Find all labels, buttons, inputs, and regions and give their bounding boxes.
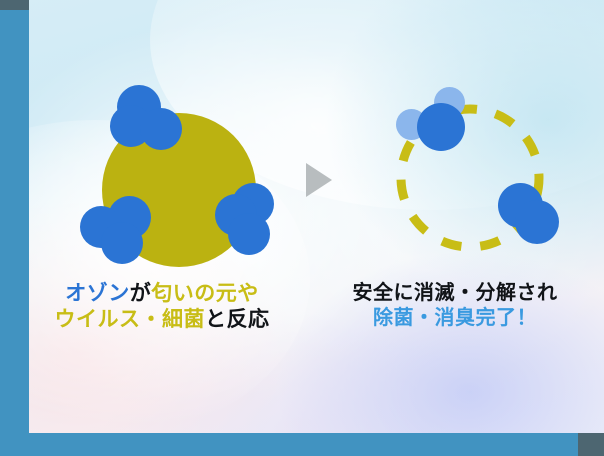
oxygen-atom <box>228 213 270 255</box>
right-caption-line-2: 除菌・消臭完了！ <box>330 306 580 331</box>
oxygen-atom <box>101 222 143 264</box>
left-caption: オゾンが匂いの元や ウイルス・細菌と反応 <box>38 281 286 334</box>
oxygen-atom <box>417 103 465 151</box>
oxygen-atom <box>515 200 559 244</box>
left-caption-line-2: ウイルス・細菌と反応 <box>38 307 286 333</box>
left-caption-seg-react: と反応 <box>205 308 270 331</box>
slide-canvas: オゾンが匂いの元や ウイルス・細菌と反応 安全に消滅・分解され 除菌・消臭完了！ <box>0 0 604 456</box>
bottom-accent-rail <box>0 433 578 456</box>
left-caption-seg-ozone: オゾン <box>65 282 130 305</box>
left-accent-rail <box>0 10 29 433</box>
left-caption-line-1: オゾンが匂いの元や <box>38 281 286 307</box>
play-triangle-right-icon <box>306 163 332 197</box>
right-caption-seg-safe: 安全に消滅・分解され <box>353 282 558 304</box>
oxygen-atom <box>140 108 182 150</box>
left-caption-seg-ga: が <box>130 282 152 305</box>
left-caption-seg-odor: 匂いの元や <box>151 282 259 305</box>
right-caption: 安全に消滅・分解され 除菌・消臭完了！ <box>330 281 580 331</box>
right-caption-line-1: 安全に消滅・分解され <box>330 281 580 306</box>
right-caption-seg-complete: 除菌・消臭完了！ <box>373 307 537 329</box>
corner-marker-top-left <box>0 0 29 10</box>
left-caption-seg-virus: ウイルス・細菌 <box>55 308 206 331</box>
corner-marker-bottom-right <box>578 433 604 456</box>
